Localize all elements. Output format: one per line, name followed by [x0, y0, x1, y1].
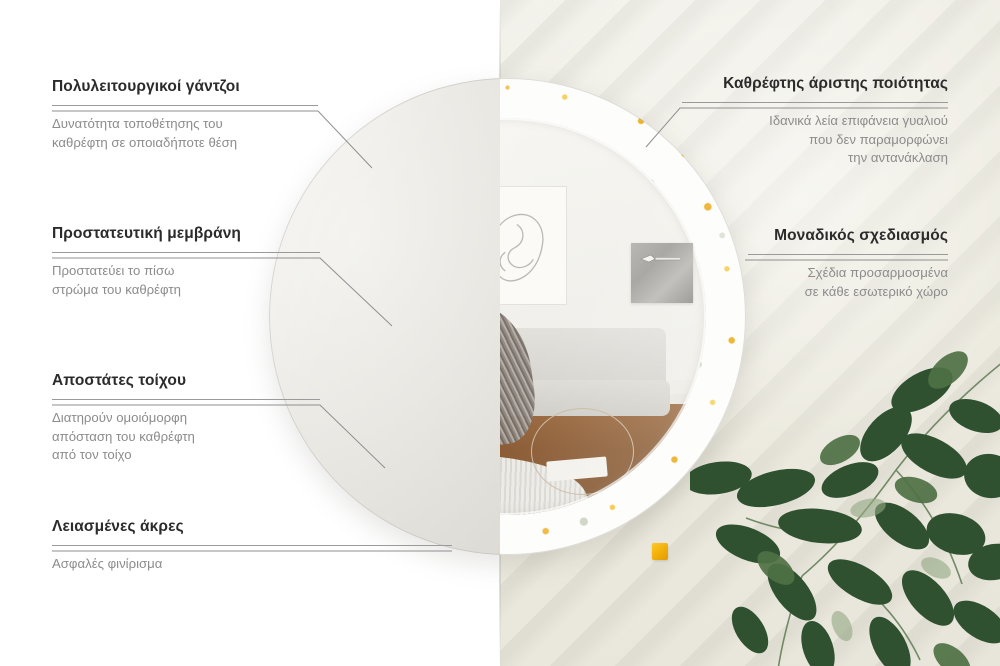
callout-unique-design: Μοναδικός σχεδιασμός Σχέδια προσαρμοσμέν…: [748, 227, 948, 301]
callout-title: Μοναδικός σχεδιασμός: [748, 227, 948, 245]
reflected-hoop-chair: [531, 408, 634, 495]
callout-title: Λειασμένες άκρες: [52, 518, 452, 536]
callout-rule: [52, 252, 320, 253]
mirror-disc: [269, 78, 746, 555]
callout-multifunctional-hooks: Πολυλειτουργικοί γάντζοι Δυνατότητα τοπο…: [52, 78, 318, 152]
wall-spacer-part: [652, 543, 668, 560]
callout-title: Προστατευτική μεμβράνη: [52, 225, 320, 243]
callout-top-quality-mirror: Καθρέφτης άριστης ποιότητας Ιδανικά λεία…: [682, 75, 948, 168]
callout-description: Προστατεύει το πίσω στρώμα του καθρέφτη: [52, 262, 320, 299]
callout-rule: [52, 399, 320, 400]
callout-rule: [748, 254, 948, 255]
callout-description: Σχέδια προσαρμοσμένα σε κάθε εσωτερικό χ…: [748, 264, 948, 301]
line-art-portrait-icon: [500, 201, 552, 290]
hook-plate-part: [631, 243, 693, 303]
callout-description: Ιδανικά λεία επιφάνεια γυαλιού που δεν π…: [682, 112, 948, 168]
callout-title: Αποστάτες τοίχου: [52, 372, 320, 390]
callout-title: Πολυλειτουργικοί γάντζοι: [52, 78, 318, 96]
callout-rule: [52, 545, 452, 546]
reflected-poster-frame: [500, 186, 567, 305]
decorative-plant: [690, 330, 1000, 666]
product-mirror: [269, 78, 746, 555]
callout-description: Δυνατότητα τοποθέτησης του καθρέφτη σε ο…: [52, 115, 318, 152]
callout-wall-spacers: Αποστάτες τοίχου Διατηρούν ομοιόμορφη απ…: [52, 372, 320, 465]
callout-protective-membrane: Προστατευτική μεμβράνη Προστατεύει το πί…: [52, 225, 320, 299]
reflected-room: [500, 118, 706, 515]
callout-rule: [52, 105, 318, 106]
callout-title: Καθρέφτης άριστης ποιότητας: [682, 75, 948, 93]
mirror-glass: [500, 118, 706, 515]
infographic-canvas: Πολυλειτουργικοί γάντζοι Δυνατότητα τοπο…: [0, 0, 1000, 666]
callout-description: Διατηρούν ομοιόμορφη απόσταση του καθρέφ…: [52, 409, 320, 465]
callout-description: Ασφαλές φινίρισμα: [52, 555, 452, 574]
hanging-hook-icon: [639, 253, 683, 264]
callout-rule: [682, 102, 948, 103]
callout-smoothed-edges: Λειασμένες άκρες Ασφαλές φινίρισμα: [52, 518, 452, 574]
